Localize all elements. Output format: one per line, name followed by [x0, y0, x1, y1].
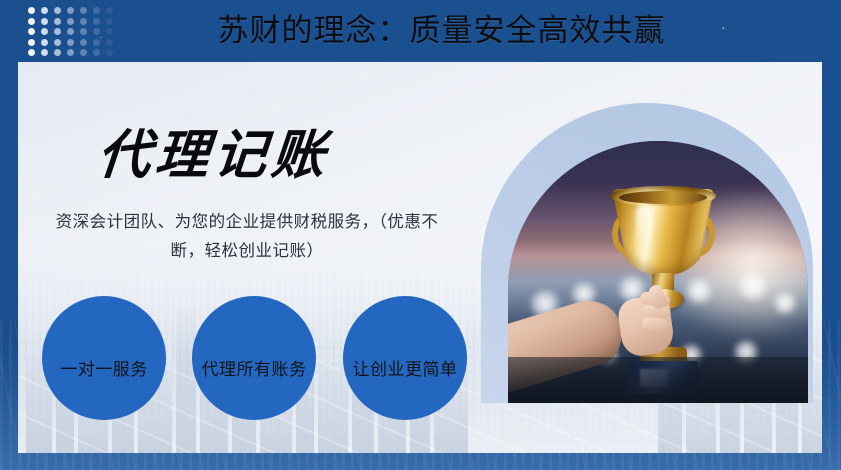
- photo-foreground-shadow: [508, 357, 808, 403]
- trophy-inner-bowl: [619, 191, 707, 204]
- slide-canvas: 苏财的理念：质量安全高效共赢: [0, 0, 841, 470]
- slide-header-title: 苏财的理念：质量安全高效共赢: [0, 4, 841, 58]
- feature-circle-label: 代理所有账务: [202, 355, 307, 380]
- feature-circle-2[interactable]: 代理所有账务: [192, 296, 316, 420]
- header-bar: 苏财的理念：质量安全高效共赢: [0, 0, 841, 62]
- feature-circle-3[interactable]: 让创业更简单: [343, 296, 467, 420]
- photo-bokeh-light: [736, 271, 770, 301]
- body-description: 资深会计团队、为您的企业提供财税服务，（优惠不断，轻松创业记账）: [54, 208, 440, 266]
- feature-circle-label: 一对一服务: [60, 355, 148, 380]
- content-panel: 代理记账 资深会计团队、为您的企业提供财税服务，（优惠不断，轻松创业记账） 一对…: [18, 62, 822, 453]
- photo-bokeh-light: [772, 291, 798, 315]
- page-title: 代理记账: [95, 113, 334, 189]
- photo-finger: [642, 317, 669, 331]
- trophy-highlight: [636, 205, 652, 261]
- feature-circle-label: 让创业更简单: [353, 355, 458, 380]
- feature-circle-group: 一对一服务 代理所有账务 让创业更简单: [42, 296, 492, 421]
- trophy-in-hand-photo: [508, 141, 808, 403]
- feature-circle-1[interactable]: 一对一服务: [42, 296, 166, 420]
